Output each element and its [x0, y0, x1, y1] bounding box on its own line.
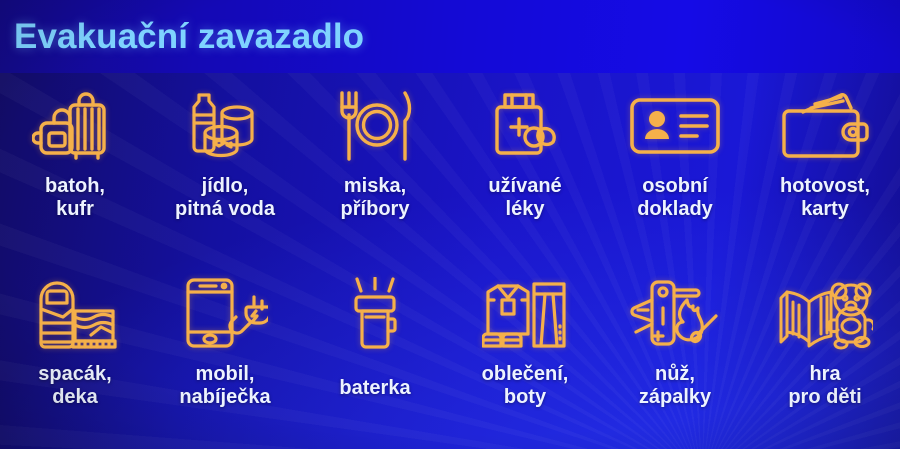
item-label: hra pro děti [788, 363, 861, 409]
page-title: Evakuační zavazadlo [14, 17, 364, 57]
item-label: spacák, deka [38, 363, 111, 409]
wallet-cards-icon [769, 87, 881, 165]
grid-item: spacák, deka [0, 261, 150, 449]
medicine-pills-icon [469, 87, 581, 165]
flashlight-icon [319, 275, 431, 353]
bottle-canned-food-icon [169, 87, 281, 165]
item-grid: batoh, kufr jídlo, pitná voda [0, 73, 900, 449]
grid-item: miska, příbory [300, 73, 450, 261]
id-card-icon [619, 87, 731, 165]
grid-item: hotovost, karty [750, 73, 900, 261]
item-label: jídlo, pitná voda [175, 175, 275, 221]
grid-item: baterka [300, 261, 450, 449]
backpack-suitcase-icon [19, 87, 131, 165]
grid-item: oblečení, boty [450, 261, 600, 449]
clothes-shoes-icon [469, 275, 581, 353]
item-label: hotovost, karty [780, 175, 870, 221]
grid-item: užívané léky [450, 73, 600, 261]
grid-item: hra pro děti [750, 261, 900, 449]
book-teddy-bear-icon [769, 275, 881, 353]
item-label: mobil, nabíječka [179, 363, 270, 409]
grid-item: nůž, zápalky [600, 261, 750, 449]
item-label: nůž, zápalky [639, 363, 711, 409]
phone-charger-icon [169, 275, 281, 353]
item-label: oblečení, boty [482, 363, 569, 409]
header-band: Evakuační zavazadlo [0, 0, 900, 73]
item-label: užívané léky [488, 175, 561, 221]
grid-item: batoh, kufr [0, 73, 150, 261]
item-label: miska, příbory [341, 175, 410, 221]
item-label: baterka [339, 377, 410, 400]
grid-item: jídlo, pitná voda [150, 73, 300, 261]
item-label: osobní doklady [637, 175, 713, 221]
item-label: batoh, kufr [45, 175, 105, 221]
knife-matches-icon [619, 275, 731, 353]
grid-item: mobil, nabíječka [150, 261, 300, 449]
grid-item: osobní doklady [600, 73, 750, 261]
sleeping-bag-blanket-icon [19, 275, 131, 353]
plate-cutlery-icon [319, 87, 431, 165]
infographic-screen: Evakuační zavazadlo batoh, kufr [0, 0, 900, 449]
